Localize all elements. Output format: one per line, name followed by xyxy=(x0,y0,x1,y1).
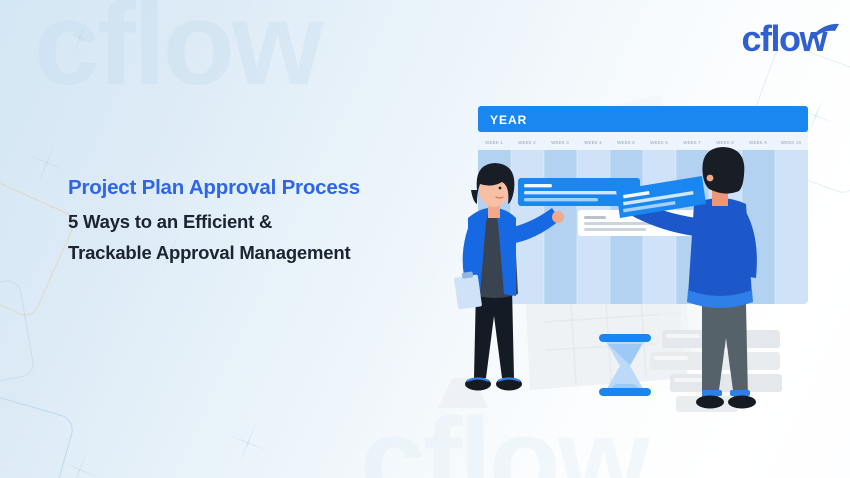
clipboard xyxy=(454,271,482,309)
headline-block: Project Plan Approval Process 5 Ways to … xyxy=(68,176,438,273)
marketing-banner: cflow cflow cflow Project Plan Approval … xyxy=(0,0,850,478)
sparkle-icon xyxy=(225,420,271,466)
svg-text:YEAR: YEAR xyxy=(490,113,527,127)
cflow-logo[interactable]: cflow xyxy=(741,18,826,60)
svg-text:WEEK 6: WEEK 6 xyxy=(650,140,668,145)
subtitle-line-1: 5 Ways to an Efficient & xyxy=(68,211,438,233)
svg-text:WEEK 1: WEEK 1 xyxy=(485,140,503,145)
sparkle-icon xyxy=(24,140,70,186)
svg-text:WEEK 3: WEEK 3 xyxy=(551,140,569,145)
svg-text:WEEK 7: WEEK 7 xyxy=(683,140,701,145)
project-plan-board-illustration: YEAR WEEK 1 WEEK 2 WEEK 3 WEEK 4 WEEK 5 … xyxy=(430,78,850,478)
svg-text:WEEK 4: WEEK 4 xyxy=(584,140,602,145)
hexagon-outline-blue xyxy=(0,386,76,478)
svg-text:WEEK 5: WEEK 5 xyxy=(617,140,635,145)
svg-text:WEEK 9: WEEK 9 xyxy=(749,140,767,145)
subtitle-line-2: Trackable Approval Management xyxy=(68,242,438,264)
svg-text:WEEK 8: WEEK 8 xyxy=(716,140,734,145)
background-watermark-top: cflow xyxy=(34,0,321,112)
page-title: Project Plan Approval Process xyxy=(68,176,438,200)
svg-text:WEEK 10: WEEK 10 xyxy=(781,140,802,145)
svg-text:WEEK 2: WEEK 2 xyxy=(518,140,536,145)
